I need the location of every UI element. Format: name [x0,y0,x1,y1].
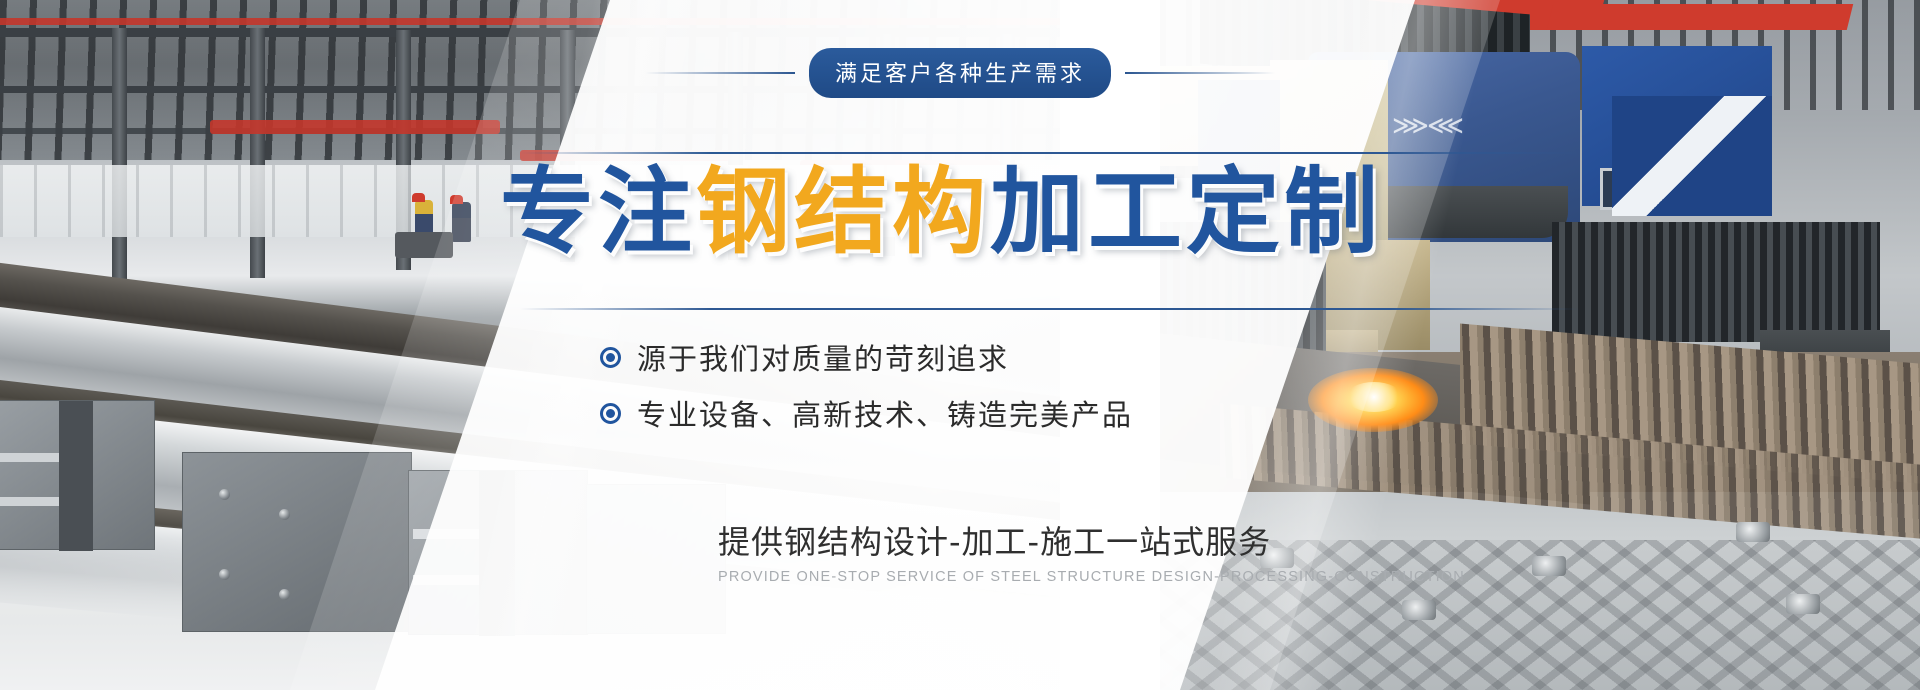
banner-content: 满足客户各种生产需求 专注钢结构加工定制 源于我们对质量的苛刻追求 专业设备、高… [0,0,1920,690]
list-item: 专业设备、高新技术、铸造完美产品 [600,392,1133,434]
bullet-dot-icon [600,347,621,368]
feature-text: 专业设备、高新技术、铸造完美产品 [637,392,1133,434]
bullet-dot-icon [600,403,621,424]
headline-part-1: 专注 [500,158,696,267]
slogan-en: PROVIDE ONE-STOP SERVICE OF STEEL STRUCT… [718,569,1465,585]
badge-label: 满足客户各种生产需求 [809,48,1111,98]
badge: 满足客户各种生产需求 [645,48,1275,98]
slogan-cn: 提供钢结构设计-加工-施工一站式服务 [718,517,1271,563]
page-title: 专注钢结构加工定制 [500,158,1500,268]
list-item: 源于我们对质量的苛刻追求 [600,336,1133,378]
headline-part-3: 加工定制 [990,158,1382,267]
hero-banner: ⋙⋘ 满足客户各种生产需求 [0,0,1920,690]
headline-top-rule [520,152,1580,154]
feature-text: 源于我们对质量的苛刻追求 [637,336,1009,378]
feature-list: 源于我们对质量的苛刻追求 专业设备、高新技术、铸造完美产品 [600,336,1133,448]
badge-right-rule [1125,72,1275,74]
badge-left-rule [645,72,795,74]
headline-bottom-rule [520,308,1580,310]
headline-part-2: 钢结构 [696,158,990,267]
